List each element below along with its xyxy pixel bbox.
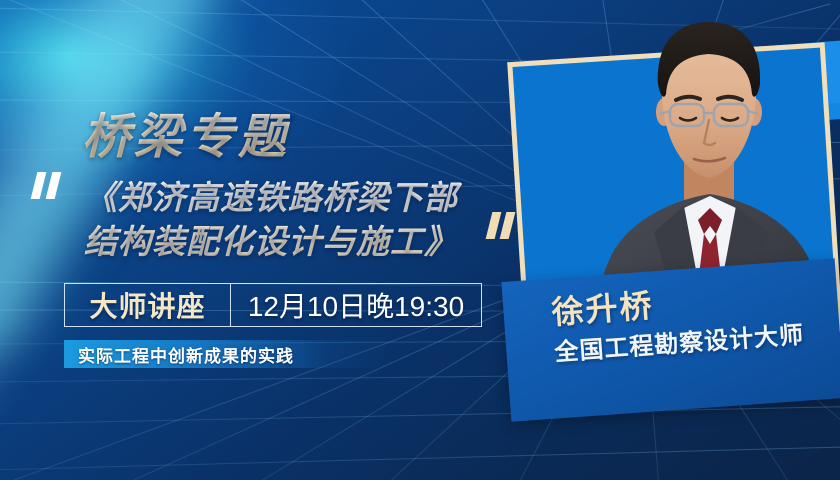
quote-open-icon	[34, 172, 68, 202]
lecture-type-label: 大师讲座	[89, 285, 205, 325]
lecture-subtitle: 《郑济高速铁路桥梁下部 结构装配化设计与施工》	[84, 176, 504, 264]
lecture-date-cell: 12月10日晚19:30	[231, 284, 481, 326]
tagline-band: 实际工程中创新成果的实践	[64, 340, 394, 368]
page-title: 桥梁专题	[82, 97, 290, 167]
quote-close-icon	[489, 212, 519, 240]
speaker-photo-zone: 徐升桥 全国工程勘察设计大师	[500, 0, 840, 480]
poster-canvas: 徐升桥 全国工程勘察设计大师 桥梁专题 《郑济高速铁路桥梁下部 结构装配化设计与…	[0, 0, 840, 480]
lecture-info-box: 大师讲座 12月10日晚19:30	[64, 283, 482, 327]
speaker-nameplate: 徐升桥 全国工程勘察设计大师	[501, 258, 840, 422]
lecture-subtitle-line2: 结构装配化设计与施工》	[84, 220, 504, 264]
lecture-type-cell: 大师讲座	[65, 284, 231, 326]
lecture-subtitle-line1: 《郑济高速铁路桥梁下部	[84, 176, 504, 220]
tagline-text: 实际工程中创新成果的实践	[64, 342, 294, 367]
lecture-date-label: 12月10日晚19:30	[248, 285, 464, 325]
